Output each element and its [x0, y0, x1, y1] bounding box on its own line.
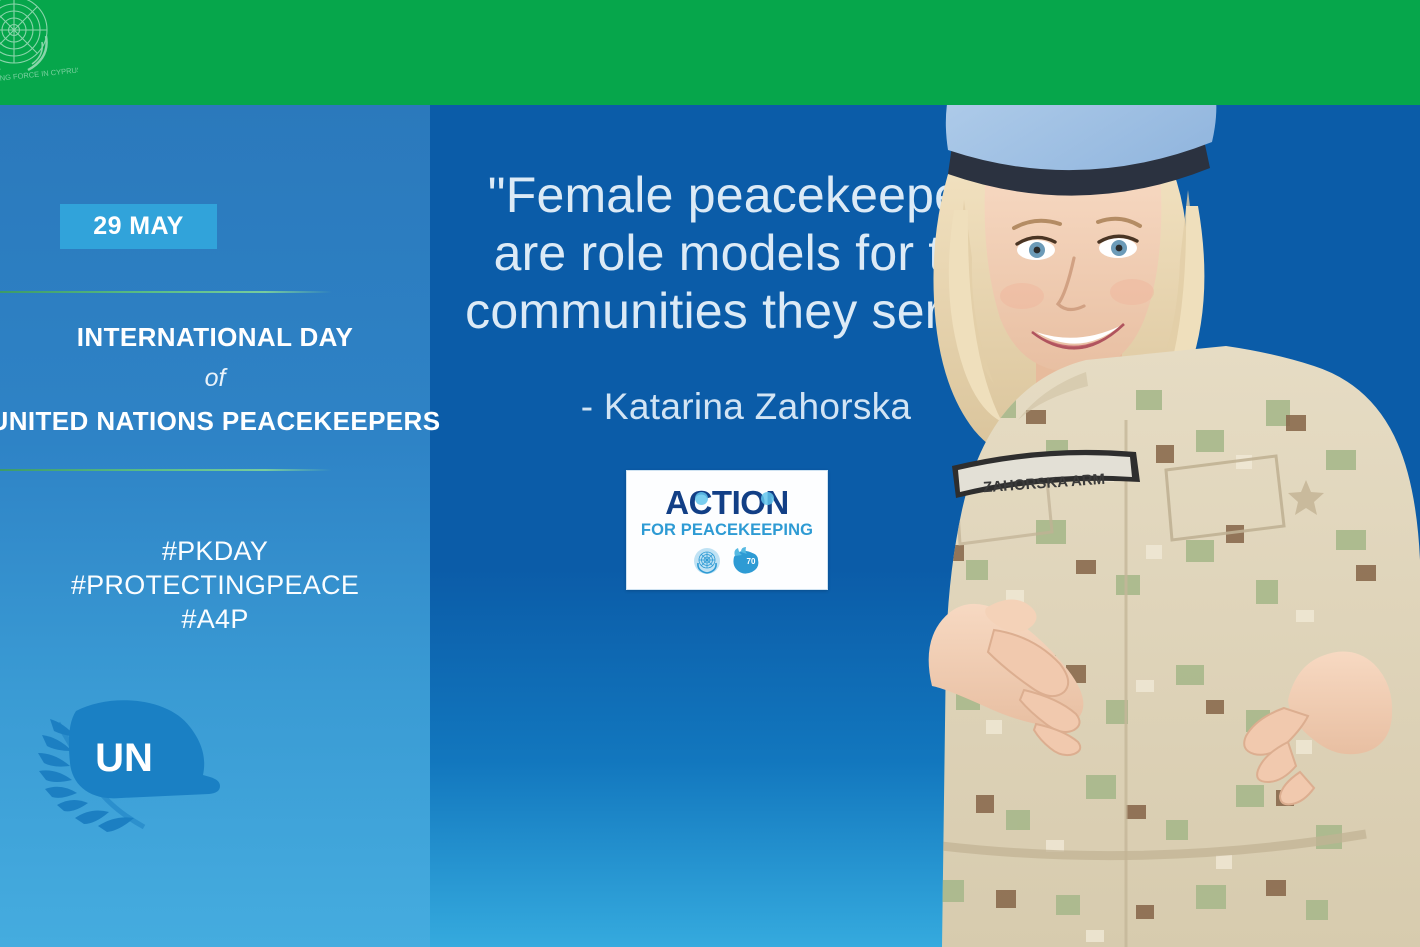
- quote-line: "Female peacekeepers: [446, 166, 1046, 224]
- hashtag-item: #PROTECTINGPEACE: [0, 568, 430, 602]
- quote-line: are role models for the: [446, 224, 1046, 282]
- divider-bottom: [0, 469, 332, 471]
- action-for-peacekeeping-logo: ACTION FOR PEACEKEEPING 70: [626, 470, 828, 590]
- un-logo-text: UN: [95, 736, 153, 780]
- un-emblem-icon: [693, 547, 721, 575]
- un70-dove-icon: 70: [731, 547, 761, 575]
- a4p-action-word: ACTION: [665, 486, 789, 520]
- a4p-accent-dot: [761, 492, 774, 505]
- observance-title-line1: INTERNATIONAL DAY: [0, 322, 470, 353]
- a4p-emblem-row: 70: [693, 547, 761, 575]
- header-bar: [0, 0, 1420, 105]
- a4p-subtitle: FOR PEACEKEEPING: [641, 521, 813, 540]
- date-badge-label: 29 MAY: [93, 212, 183, 241]
- svg-text:70: 70: [747, 557, 756, 566]
- observance-title-line2: of: [0, 364, 430, 393]
- quote-line: communities they serve.": [446, 282, 1046, 340]
- quote-attribution: - Katarina Zahorska: [446, 386, 1046, 428]
- divider-top: [0, 291, 332, 293]
- quote-text: "Female peacekeepers are role models for…: [446, 166, 1046, 340]
- hashtag-list: #PKDAY #PROTECTINGPEACE #A4P: [0, 534, 430, 636]
- poster-canvas: CYP EPING FORCE IN CYPRUS PROTECTING CIV…: [0, 0, 1420, 947]
- a4p-accent-dot: [695, 492, 708, 505]
- hashtag-item: #A4P: [0, 602, 430, 636]
- un-peacekeeping-helmet-logo: UN: [28, 683, 248, 853]
- date-badge: 29 MAY: [60, 204, 217, 249]
- observance-title-line3: UNITED NATIONS PEACEKEEPERS: [0, 406, 470, 437]
- hashtag-item: #PKDAY: [0, 534, 430, 568]
